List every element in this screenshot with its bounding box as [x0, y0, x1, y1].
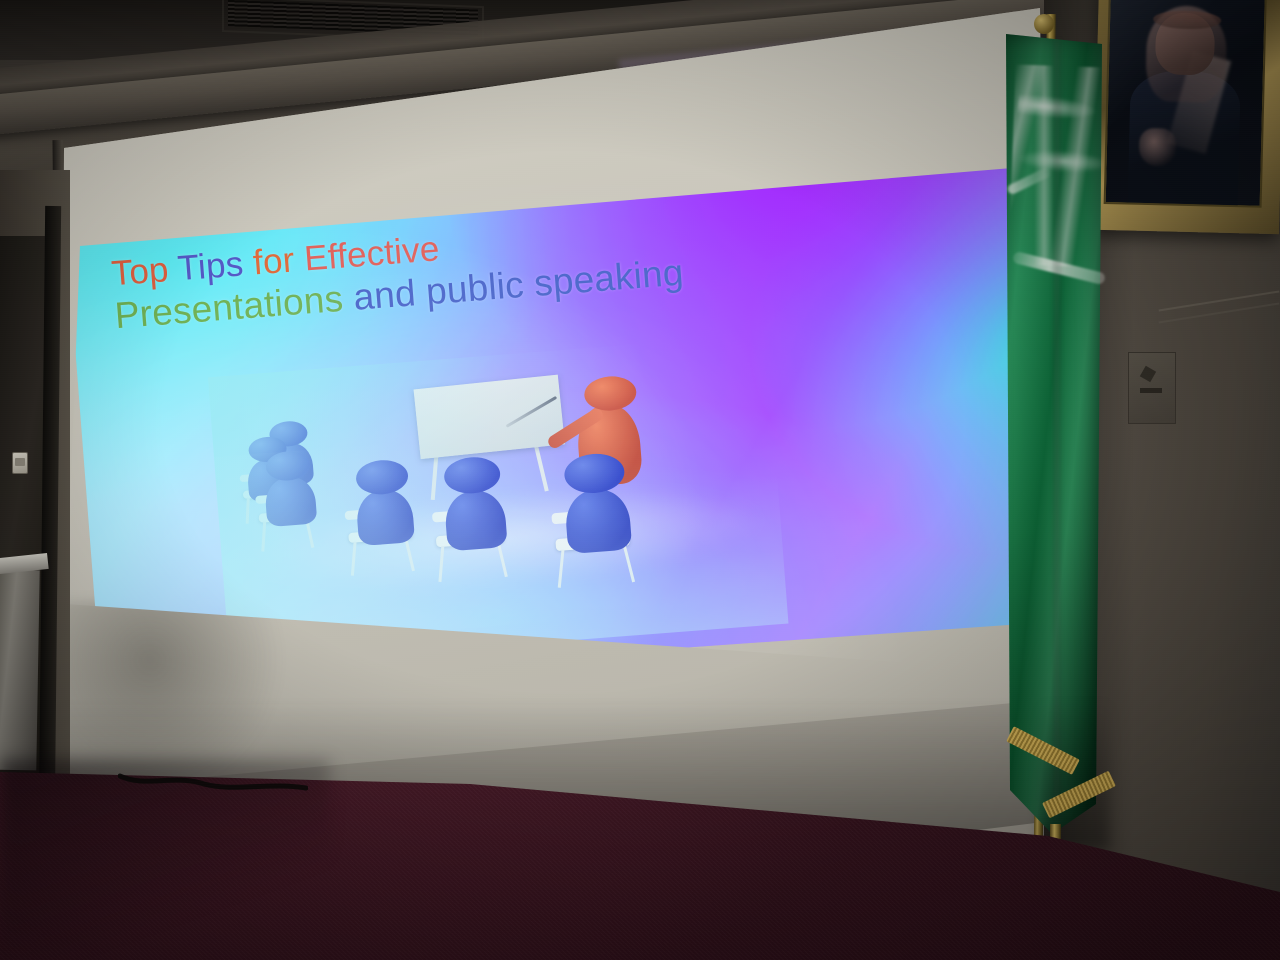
word-tips: Tips	[176, 244, 254, 289]
classroom-clipart	[229, 356, 765, 625]
audience-head	[443, 455, 502, 495]
whiteboard	[414, 375, 565, 460]
audience-head	[355, 458, 409, 496]
whiteboard-leg-right	[534, 446, 549, 492]
wall-panel-slot[interactable]	[1140, 388, 1162, 393]
light-switch-rocker[interactable]	[15, 458, 25, 466]
whiteboard-leg-left	[431, 454, 439, 500]
room-photo: Top Tips for Effective Presentations and…	[0, 0, 1280, 960]
flag-pole-finial	[1034, 14, 1054, 34]
presenter-head	[583, 375, 637, 413]
podium	[0, 570, 40, 771]
framed-royal-portrait	[1093, 0, 1280, 234]
word-top: Top	[110, 249, 179, 293]
clipart-floor	[239, 475, 766, 625]
portrait-canvas	[1104, 0, 1267, 208]
audience-body	[355, 488, 415, 546]
word-for: for	[252, 240, 306, 283]
carpet-shadow	[0, 760, 330, 960]
